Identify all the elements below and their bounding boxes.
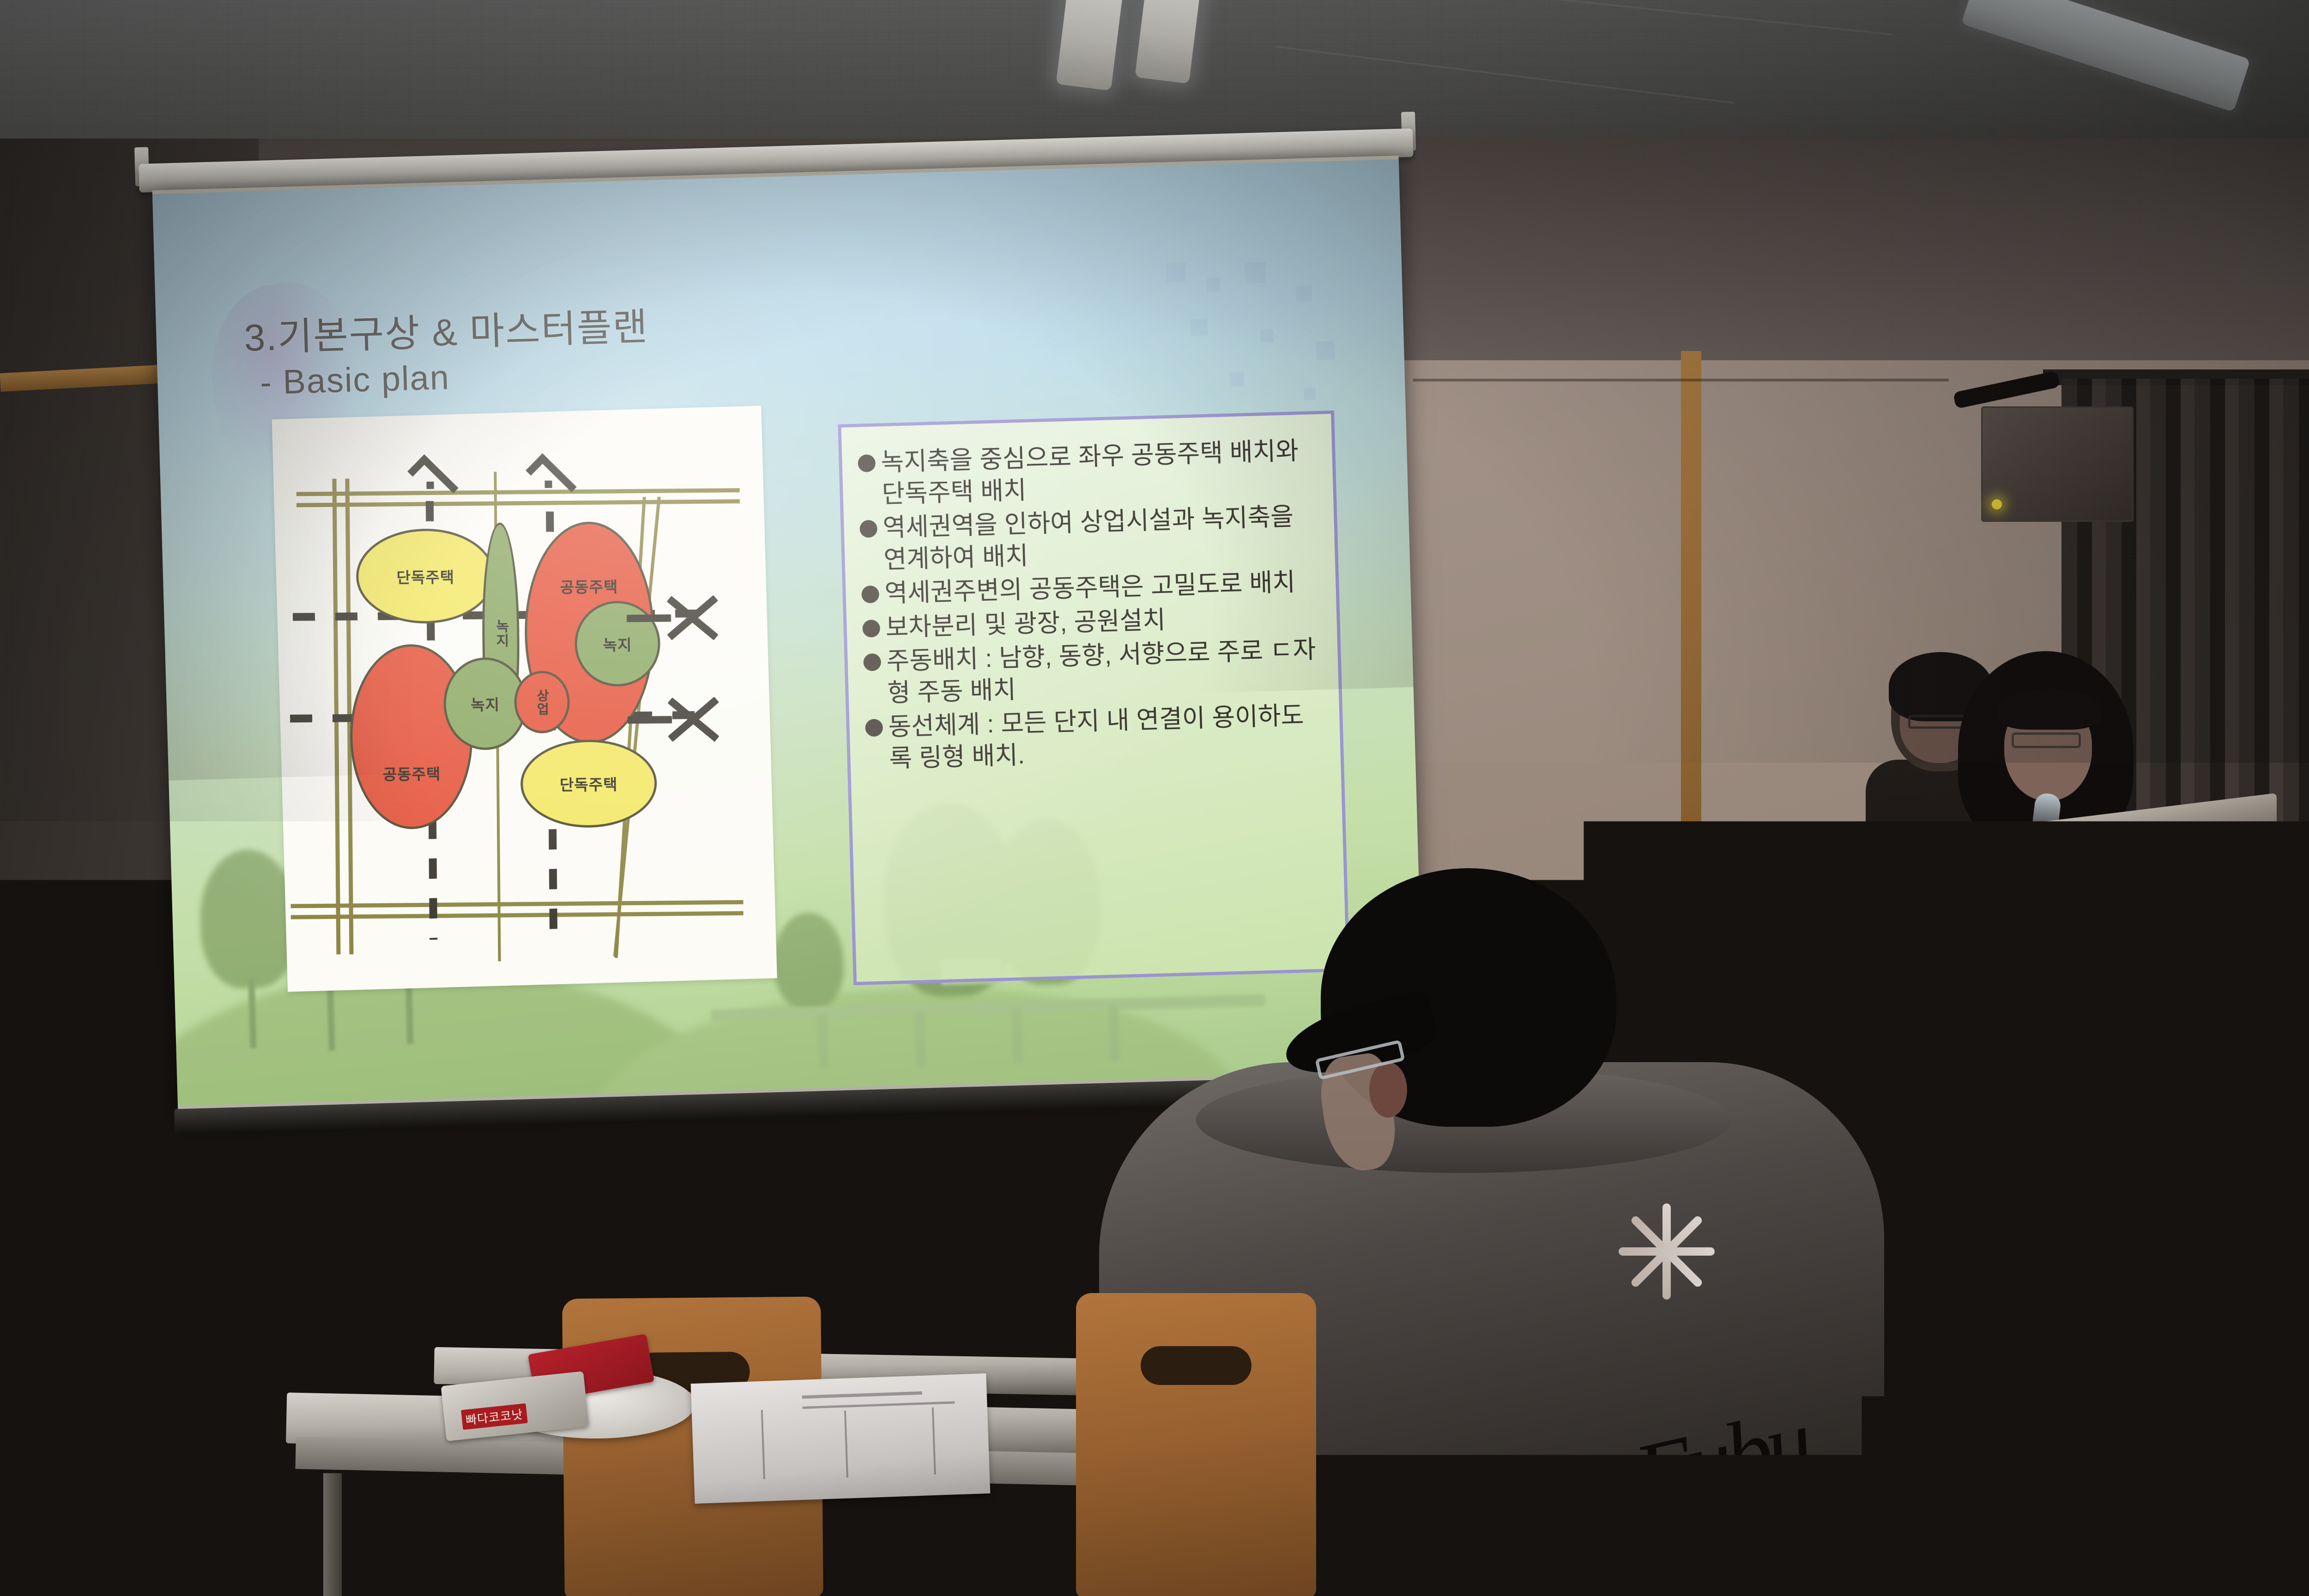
lecture-room: 3.기본구상 & 마스터플랜 - Basic plan xyxy=(0,0,2309,1596)
road-solid-horizontal xyxy=(296,488,740,496)
audience-member-fur-hood-plaid xyxy=(2083,961,2309,1596)
basic-plan-concept-diagram: 단독주택 녹지 공동주택 녹지 공동주택 xyxy=(272,406,777,992)
wooden-chair xyxy=(0,1312,275,1596)
chair-handle-cutout xyxy=(1141,1346,1251,1385)
bullet-item: 역세권역을 인하여 상업시설과 녹지축을 연계하여 배치 xyxy=(859,500,1320,577)
fur-hood xyxy=(2083,961,2309,1247)
zone-detached-housing-bottom: 단독주택 xyxy=(520,739,657,828)
bullet-item: 동선체계 : 모든 단지 내 연결이 용이하도록 링형 배치. xyxy=(865,699,1326,776)
slide-decoration-squares xyxy=(1161,257,1364,415)
handout-papers xyxy=(691,1373,991,1504)
wall-mounted-speaker xyxy=(1981,406,2134,522)
bullet-item: 주동배치 : 남향, 동향, 서향으로 주로 ㄷ자형 주동 배치 xyxy=(863,633,1324,710)
bullet-item: 녹지축을 중심으로 좌우 공동주택 배치와 단독주택 배치 xyxy=(858,435,1318,511)
status-led-indicator xyxy=(1992,499,2002,509)
bullet-dot-icon xyxy=(861,586,879,604)
chair-back xyxy=(0,1312,275,1596)
bullet-dot-icon xyxy=(865,719,883,737)
road-solid-horizontal xyxy=(291,911,743,919)
paper-text-line xyxy=(802,1391,922,1399)
bullet-dot-icon xyxy=(863,653,881,671)
slide-title: 3.기본구상 & 마스터플랜 xyxy=(243,296,649,362)
paper-text-line xyxy=(761,1410,765,1479)
paper-text-line xyxy=(844,1411,848,1478)
glasses-icon xyxy=(2012,732,2081,748)
presenter-bangs xyxy=(1997,689,2101,730)
hoodie-star-emblem-icon xyxy=(1616,1201,1718,1302)
chair-back xyxy=(1076,1293,1316,1596)
bullet-dot-icon xyxy=(859,520,877,538)
slide-subtitle: - Basic plan xyxy=(260,357,450,402)
bullet-dot-icon xyxy=(862,619,880,637)
zone-commercial: 상업 xyxy=(514,671,570,733)
wall-panel-seam xyxy=(1413,379,1949,381)
zone-green-space-right: 녹지 xyxy=(574,601,661,687)
chair-handle-cutout xyxy=(73,1368,193,1412)
bullet-dot-icon xyxy=(858,454,876,472)
wooden-chair xyxy=(490,1542,1034,1596)
paper-text-line xyxy=(932,1408,936,1475)
zone-detached-housing-top: 단독주택 xyxy=(356,528,495,624)
audience-ear xyxy=(1369,1062,1407,1118)
road-solid-horizontal xyxy=(291,900,743,908)
wooden-chair xyxy=(1076,1293,1316,1596)
desk-leg xyxy=(323,1473,342,1596)
chair-back xyxy=(490,1542,1034,1596)
road-solid-horizontal xyxy=(296,499,740,507)
